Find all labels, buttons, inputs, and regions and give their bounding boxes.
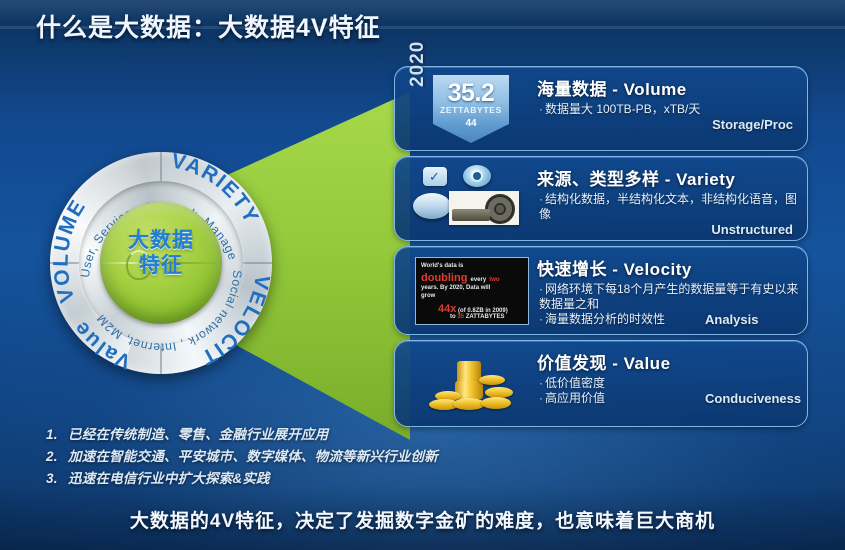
- growth-35: 35: [457, 314, 464, 320]
- slide-canvas: 什么是大数据：大数据4V特征 VOLUME: [0, 0, 845, 550]
- data-growth-image: World's data is doubling every two years…: [415, 257, 529, 325]
- conclusion-text: 大数据的4V特征，决定了发掘数字金矿的难度，也意味着巨大商机: [0, 506, 845, 533]
- panel-value-heading: 价值发现 - Value: [537, 349, 799, 374]
- panel-volume[interactable]: 2020 35.2 ZETTABYTES 44 海量数据 - Volume ·数…: [394, 66, 808, 151]
- zettabytes-value: 35.2: [433, 79, 509, 108]
- list-item: 3. 迅速在电信行业中扩大探索&实践: [46, 468, 516, 490]
- panel-value-tag: Conduciveness: [705, 391, 799, 406]
- core-label-line1: 大数据: [100, 228, 222, 253]
- panel-velocity[interactable]: World's data is doubling every two years…: [394, 246, 808, 335]
- list-item: 2. 加速在智能交通、平安城市、数字媒体、物流等新兴行业创新: [46, 446, 516, 468]
- growth-line-4: grow: [421, 293, 435, 299]
- bullet-text: 数据量大 100TB-PB，xTB/天: [545, 102, 700, 116]
- zettabytes-unit: ZETTABYTES: [433, 105, 509, 115]
- panel-volume-bullet-0: ·数据量大 100TB-PB，xTB/天: [539, 102, 799, 117]
- coin-pile: [427, 357, 519, 413]
- bullet-text: 高应用价值: [545, 391, 605, 405]
- panel-velocity-bullet-0: ·网络环境下每18个月产生的数据量等于有史以来数据量之和: [539, 282, 799, 312]
- bullet-text: 海量数据分析的时效性: [545, 312, 665, 326]
- bullet-dot: ·: [539, 376, 543, 390]
- application-list: 1. 已经在传统制造、零售、金融行业展开应用 2. 加速在智能交通、平安城市、数…: [46, 424, 516, 490]
- list-item-number: 3.: [46, 468, 68, 490]
- panel-variety[interactable]: ✓ 来源、类型多样 - Variety ·结构化数据，半结构化文本，非结构化语音…: [394, 156, 808, 241]
- eye-pupil: [473, 172, 481, 180]
- projector-body: [452, 209, 490, 221]
- variety-media-icon: ✓: [405, 163, 533, 234]
- zettabytes-mini: 44: [433, 118, 509, 129]
- bullet-dot: ·: [539, 312, 543, 326]
- panel-variety-bullet-0: ·结构化数据，半结构化文本，非结构化语音，图像: [539, 192, 799, 222]
- coin: [479, 375, 505, 385]
- growth-every: every: [471, 277, 487, 283]
- list-item-text: 加速在智能交通、平安城市、数字媒体、物流等新兴行业创新: [68, 446, 438, 468]
- growth-two: two: [489, 277, 499, 283]
- bullet-dot: ·: [539, 102, 543, 116]
- bullet-text: 网络环境下每18个月产生的数据量等于有史以来数据量之和: [539, 282, 798, 311]
- panel-velocity-tag: Analysis: [705, 312, 799, 327]
- circle-core: 大数据 特征: [100, 202, 222, 324]
- check-glyph: ✓: [429, 169, 440, 185]
- panel-volume-heading: 海量数据 - Volume: [537, 75, 799, 100]
- panel-value-bullet-0: ·低价值密度: [539, 376, 799, 391]
- growth-to: to: [450, 314, 456, 320]
- coin: [481, 397, 511, 409]
- panel-variety-body: 来源、类型多样 - Variety ·结构化数据，半结构化文本，非结构化语音，图…: [537, 162, 799, 237]
- list-item: 1. 已经在传统制造、零售、金融行业展开应用: [46, 424, 516, 446]
- zettabytes-shield: 35.2 ZETTABYTES 44: [433, 75, 509, 143]
- bullet-dot: ·: [539, 282, 543, 296]
- growth-line-6: to 35 ZATTABYTES: [450, 314, 504, 320]
- growth-doubling: doubling: [421, 272, 467, 284]
- panel-value[interactable]: 价值发现 - Value ·低价值密度 ·高应用价值 Conduciveness: [394, 340, 808, 427]
- volume-badge-icon: 2020 35.2 ZETTABYTES 44: [405, 73, 533, 144]
- bullet-dot: ·: [539, 192, 543, 206]
- big-data-4v-circle: VOLUME VARIETY VELOCITY Value User, Serv…: [50, 152, 272, 374]
- eye-disc-icon: [463, 165, 491, 187]
- coin: [453, 398, 485, 410]
- list-item-text: 迅速在电信行业中扩大探索&实践: [68, 468, 270, 490]
- growth-line-2: doubling every two: [421, 272, 500, 284]
- list-item-number: 1.: [46, 424, 68, 446]
- list-item-text: 已经在传统制造、零售、金融行业展开应用: [68, 424, 328, 446]
- gold-coins-icon: [405, 347, 533, 420]
- document-icon: ✓: [423, 167, 447, 186]
- core-label-line2: 特征: [100, 253, 222, 278]
- growth-line-1: World's data is: [421, 263, 463, 269]
- page-title: 什么是大数据：大数据4V特征: [36, 8, 381, 44]
- volume-year-label: 2020: [407, 41, 429, 87]
- list-item-number: 2.: [46, 446, 68, 468]
- velocity-chart-icon: World's data is doubling every two years…: [405, 253, 533, 328]
- panel-value-body: 价值发现 - Value ·低价值密度 ·高应用价值 Conduciveness: [537, 346, 799, 423]
- bullet-dot: ·: [539, 391, 543, 405]
- panel-volume-body: 海量数据 - Volume ·数据量大 100TB-PB，xTB/天 Stora…: [537, 72, 799, 147]
- panel-velocity-body: 快速增长 - Velocity ·网络环境下每18个月产生的数据量等于有史以来数…: [537, 252, 799, 331]
- growth-line-3: years. By 2020, Data will: [421, 285, 490, 291]
- panel-variety-heading: 来源、类型多样 - Variety: [537, 165, 799, 190]
- disc-icon: [413, 193, 451, 219]
- panel-variety-tag: Unstructured: [537, 222, 799, 237]
- core-label: 大数据 特征: [100, 228, 222, 278]
- bullet-text: 低价值密度: [545, 376, 605, 390]
- panel-volume-tag: Storage/Proc: [537, 117, 799, 132]
- film-reel-photo: [449, 191, 519, 225]
- growth-zattabytes: ZATTABYTES: [466, 314, 505, 320]
- panel-velocity-heading: 快速增长 - Velocity: [537, 255, 799, 280]
- bullet-text: 结构化数据，半结构化文本，非结构化语音，图像: [539, 192, 797, 221]
